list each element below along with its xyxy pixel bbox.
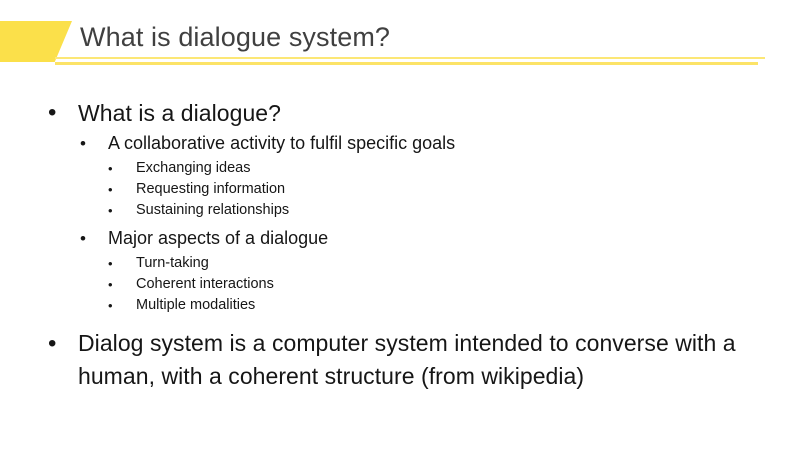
list-item-level2: • A collaborative activity to fulfil spe… — [0, 130, 800, 157]
list-item-label: Turn-taking — [136, 253, 800, 274]
definition-bullet: • Dialog system is a computer system int… — [0, 327, 800, 393]
list-item-level3: • Coherent interactions — [0, 274, 800, 295]
bullet-dot-icon: • — [108, 179, 113, 200]
bullet-dot-icon: • — [108, 295, 113, 316]
slide-canvas: What is dialogue system? • What is a dia… — [0, 0, 800, 449]
list-item-level3: • Multiple modalities — [0, 295, 800, 316]
bullet-dot-icon: • — [48, 98, 56, 128]
bullet-dot-icon: • — [108, 158, 113, 179]
bullet-dot-icon: • — [108, 253, 113, 274]
list-item-label: A collaborative activity to fulfil speci… — [108, 130, 800, 157]
bullet-dot-icon: • — [108, 200, 113, 221]
bullet-list: • What is a dialogue? • A collaborative … — [0, 98, 800, 316]
page-title: What is dialogue system? — [80, 20, 390, 54]
list-item-level3: • Turn-taking — [0, 253, 800, 274]
list-item-label: Coherent interactions — [136, 274, 800, 295]
list-item-level3: • Sustaining relationships — [0, 200, 800, 221]
title-accent-parallelogram-shape — [0, 21, 72, 62]
definition-text: Dialog system is a computer system inten… — [78, 327, 760, 393]
list-item-level2: • Major aspects of a dialogue — [0, 225, 800, 252]
bullet-dot-icon: • — [108, 274, 113, 295]
title-divider-rule-upper — [55, 57, 765, 59]
bullet-dot-icon: • — [80, 130, 86, 157]
title-divider-rule-lower — [55, 62, 758, 65]
list-item-label: Exchanging ideas — [136, 158, 800, 179]
list-item-label: Multiple modalities — [136, 295, 800, 316]
list-item-label: Major aspects of a dialogue — [108, 225, 800, 252]
list-item-label: Requesting information — [136, 179, 800, 200]
list-item-level3: • Requesting information — [0, 179, 800, 200]
bullet-dot-icon: • — [80, 225, 86, 252]
slide-title-band: What is dialogue system? — [0, 0, 800, 70]
list-item-level1: • What is a dialogue? — [0, 98, 800, 128]
list-item-level3: • Exchanging ideas — [0, 158, 800, 179]
list-item-label: What is a dialogue? — [78, 98, 800, 128]
bullet-dot-icon: • — [48, 327, 56, 360]
list-item-label: Sustaining relationships — [136, 200, 800, 221]
